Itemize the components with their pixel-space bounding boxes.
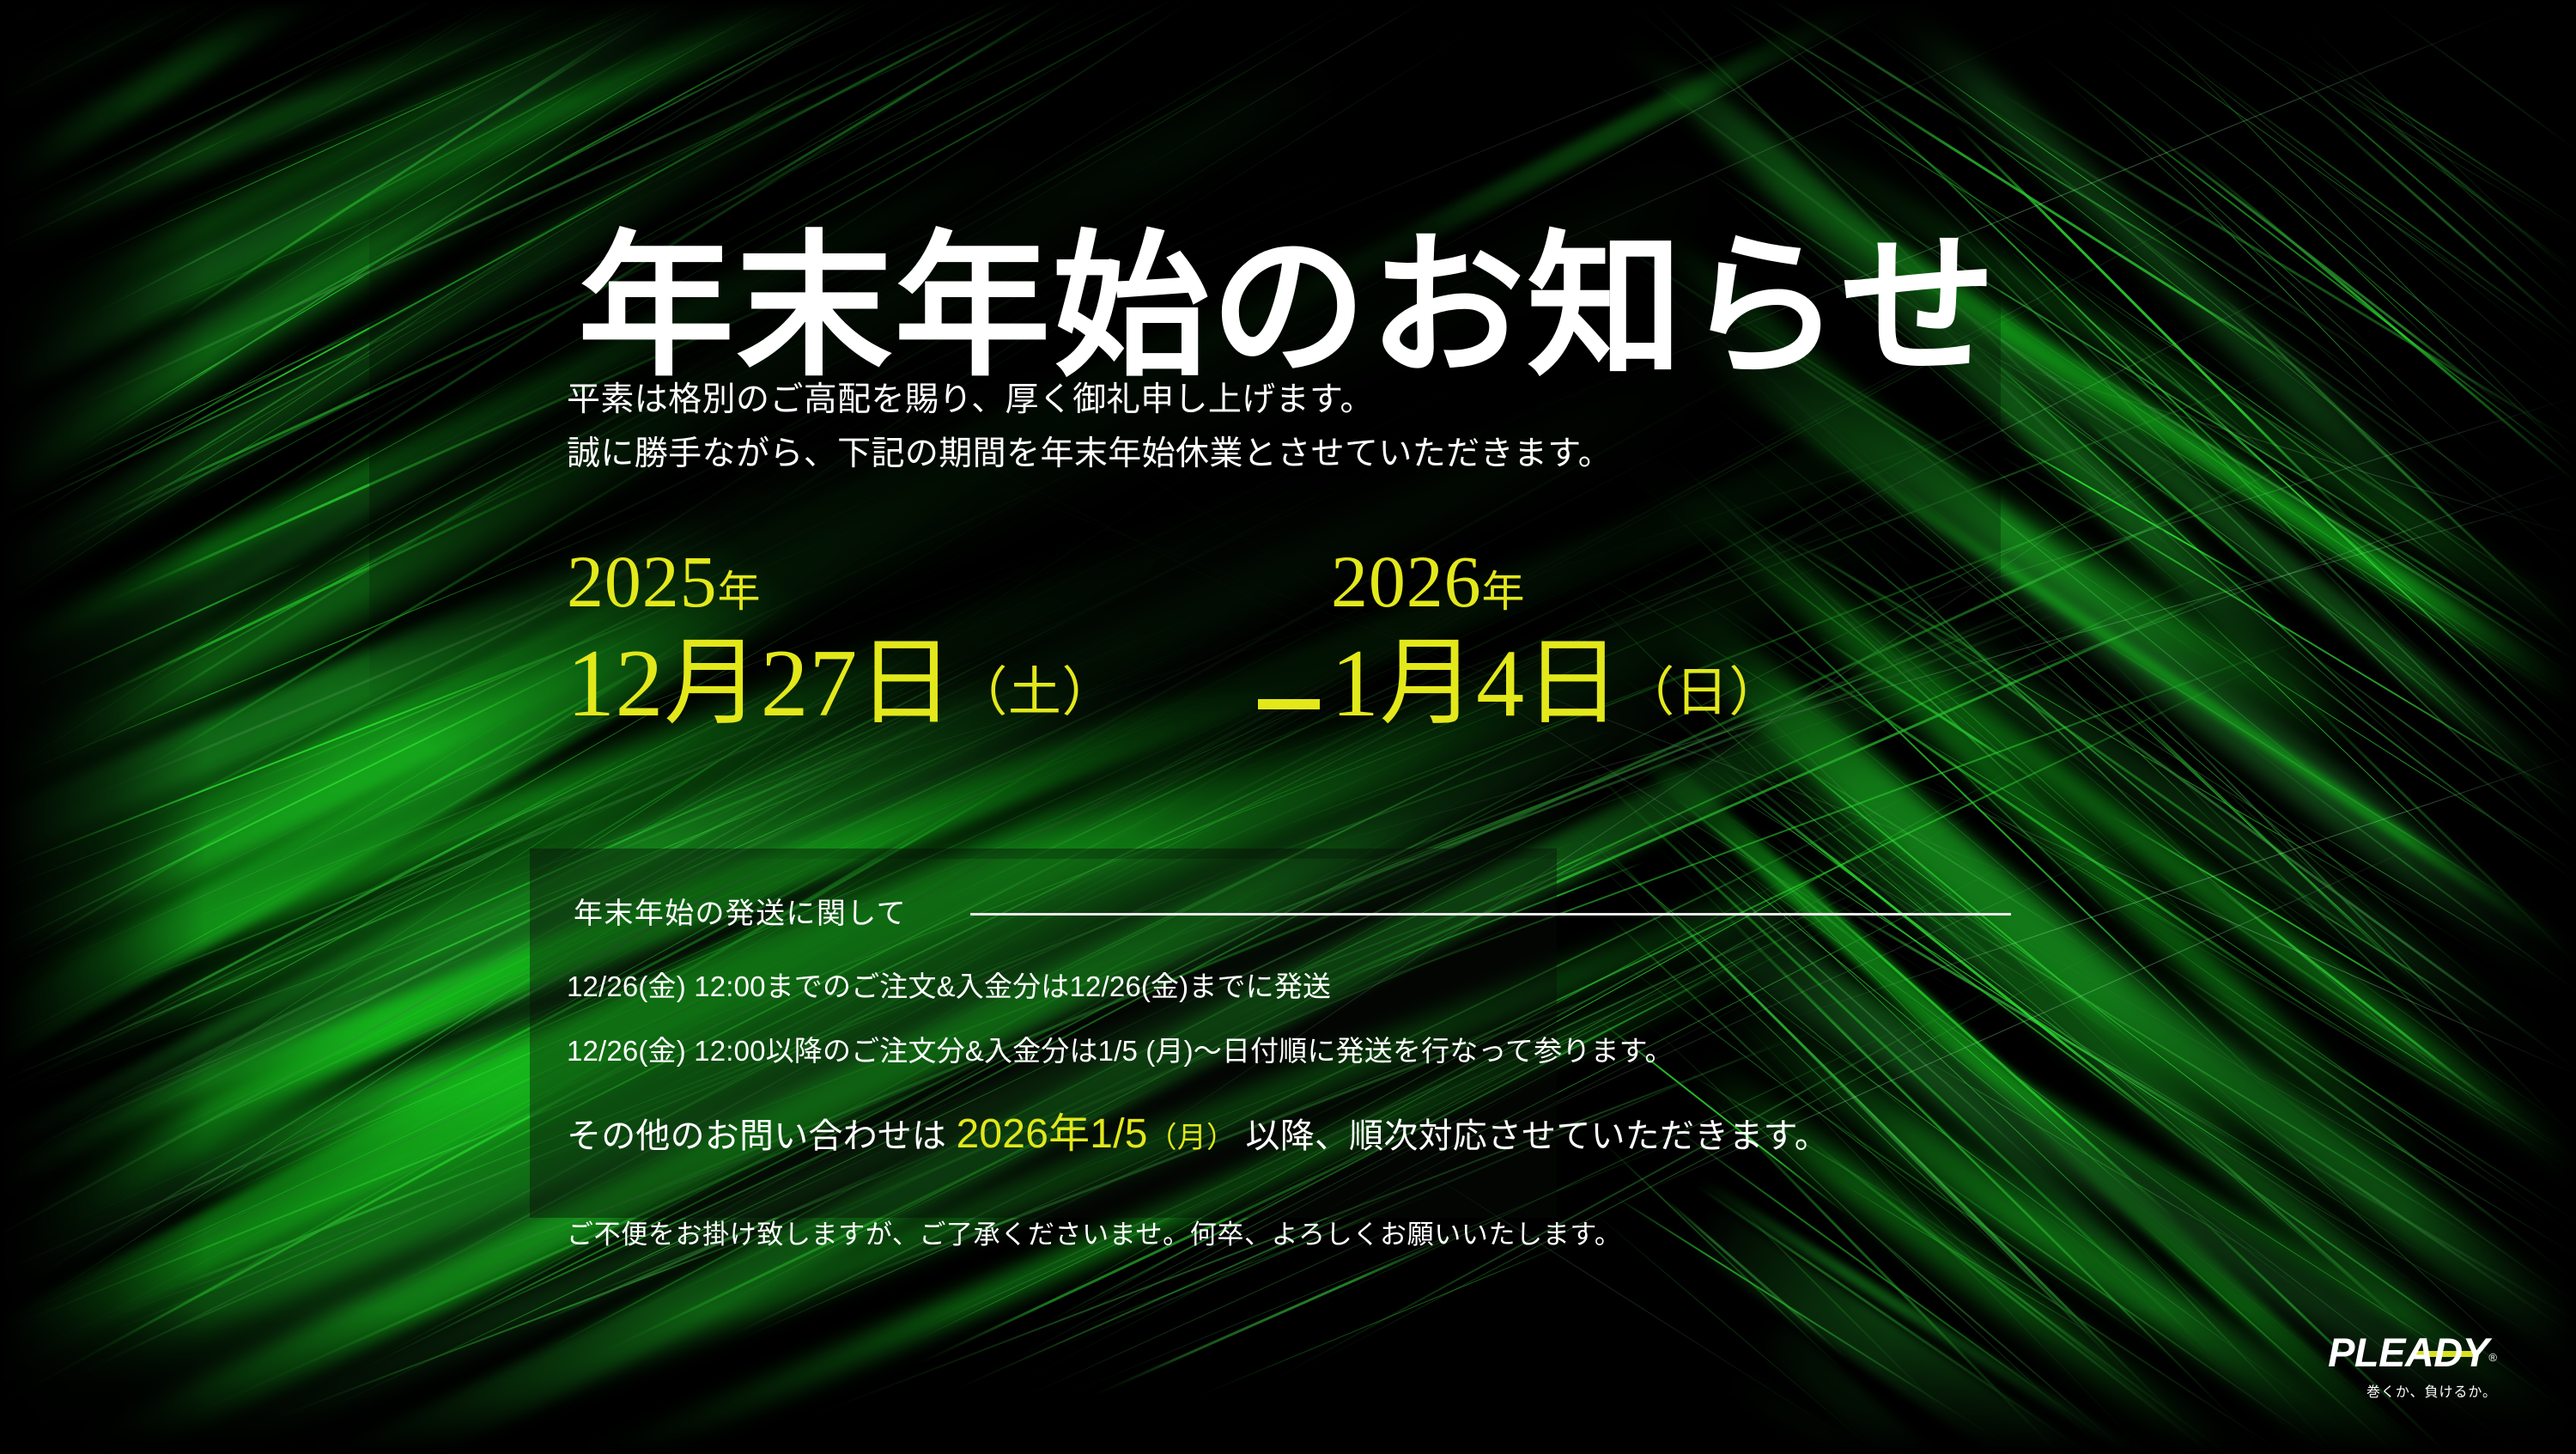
- logo-wordmark: PLEADY: [2328, 1332, 2488, 1372]
- inquiry-text-before: その他のお問い合わせは: [567, 1117, 957, 1155]
- lead-line-1: 平素は格別のご高配を賜り、厚く御礼申し上げます。: [567, 373, 1612, 427]
- holiday-start-date: 2025年 12月27日（土）: [567, 544, 1115, 732]
- inquiry-highlight-date: 2026年1/5: [957, 1111, 1148, 1157]
- holiday-period-block: 2025年 12月27日（土） 2026年 1月4日（日）: [567, 544, 2026, 776]
- shipping-section-heading: 年末年始の発送に関して: [574, 890, 907, 932]
- inquiry-highlight-weekday: （月）: [1148, 1122, 1236, 1154]
- holiday-end-monthday-value: 1月4日: [1331, 630, 1621, 737]
- holiday-end-monthday: 1月4日（日）: [1331, 636, 1783, 732]
- holiday-end-year-number: 2026: [1331, 540, 1481, 623]
- lead-line-2: 誠に勝手ながら、下記の期間を年末年始休業とさせていただきます。: [567, 427, 1612, 481]
- date-range-dash: [1258, 699, 1320, 709]
- poster-canvas: 年末年始のお知らせ 平素は格別のご高配を賜り、厚く御礼申し上げます。 誠に勝手な…: [0, 0, 2576, 1454]
- holiday-start-year: 2025年: [567, 544, 1115, 618]
- lead-paragraph: 平素は格別のご高配を賜り、厚く御礼申し上げます。 誠に勝手ながら、下記の期間を年…: [567, 373, 1612, 481]
- holiday-end-year-suffix: 年: [1481, 568, 1525, 616]
- holiday-start-weekday: （土）: [954, 664, 1115, 722]
- shipping-note-line-2: 12/26(金) 12:00以降のご注文分&入金分は1/5 (月)～日付順に発送…: [567, 1028, 1674, 1069]
- registered-trademark-icon: ®: [2488, 1351, 2497, 1364]
- closing-note: ご不便をお掛け致しますが、ご了承くださいませ。何卒、よろしくお願いいたします。: [567, 1213, 1622, 1251]
- inquiry-note: その他のお問い合わせは 2026年1/5（月） 以降、順次対応させていただきます…: [567, 1099, 1829, 1159]
- holiday-start-monthday-value: 12月27日: [567, 630, 954, 737]
- holiday-start-year-number: 2025: [567, 540, 717, 623]
- holiday-start-monthday: 12月27日（土）: [567, 636, 1115, 732]
- brand-logo: PLEADY® 巻くか、負けるか。: [2328, 1332, 2497, 1401]
- holiday-start-year-suffix: 年: [717, 568, 761, 616]
- inquiry-text-after: 以降、順次対応させていただきます。: [1236, 1117, 1829, 1155]
- shipping-heading-rule: [970, 913, 2011, 916]
- inquiry-highlight: 2026年1/5（月）: [957, 1111, 1236, 1157]
- shipping-note-line-1: 12/26(金) 12:00までのご注文&入金分は12/26(金)までに発送: [567, 964, 1331, 1005]
- holiday-end-year: 2026年: [1331, 544, 1783, 618]
- logo-mark: PLEADY®: [2328, 1332, 2497, 1372]
- holiday-end-weekday: （日）: [1621, 664, 1783, 722]
- page-title: 年末年始のお知らせ: [0, 225, 2576, 394]
- logo-tagline: 巻くか、負けるか。: [2328, 1380, 2497, 1401]
- holiday-end-date: 2026年 1月4日（日）: [1331, 544, 1783, 732]
